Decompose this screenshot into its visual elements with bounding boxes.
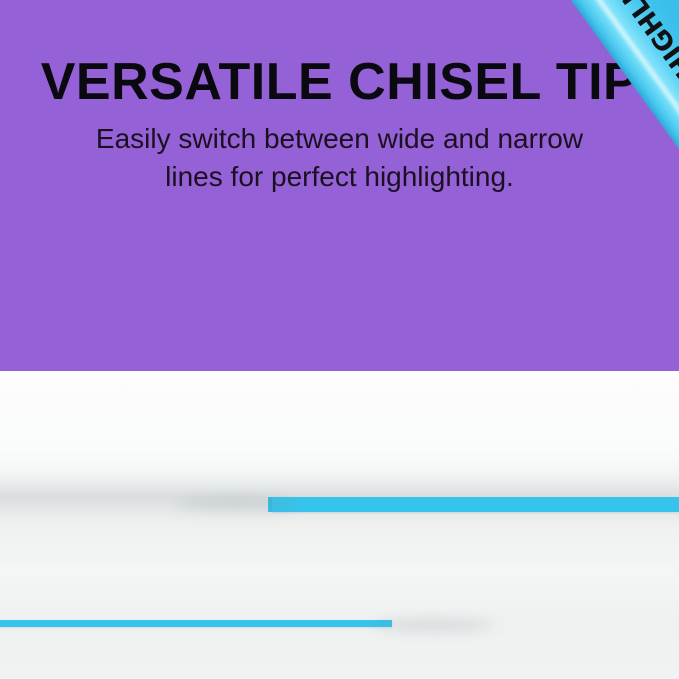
wide-highlighter-stroke (272, 497, 679, 512)
subtitle-line-1: Easily switch between wide and narrow (0, 120, 679, 158)
pen-contact-shadow-right (374, 618, 494, 632)
subtitle: Easily switch between wide and narrow li… (0, 120, 679, 196)
product-marketing-image: VERSATILE CHISEL TIP Easily switch betwe… (0, 0, 679, 679)
narrow-highlighter-stroke (0, 620, 392, 627)
pen-contact-shadow-left (176, 497, 296, 511)
subtitle-line-2: lines for perfect highlighting. (0, 158, 679, 196)
headline: VERSATILE CHISEL TIP (0, 56, 679, 109)
